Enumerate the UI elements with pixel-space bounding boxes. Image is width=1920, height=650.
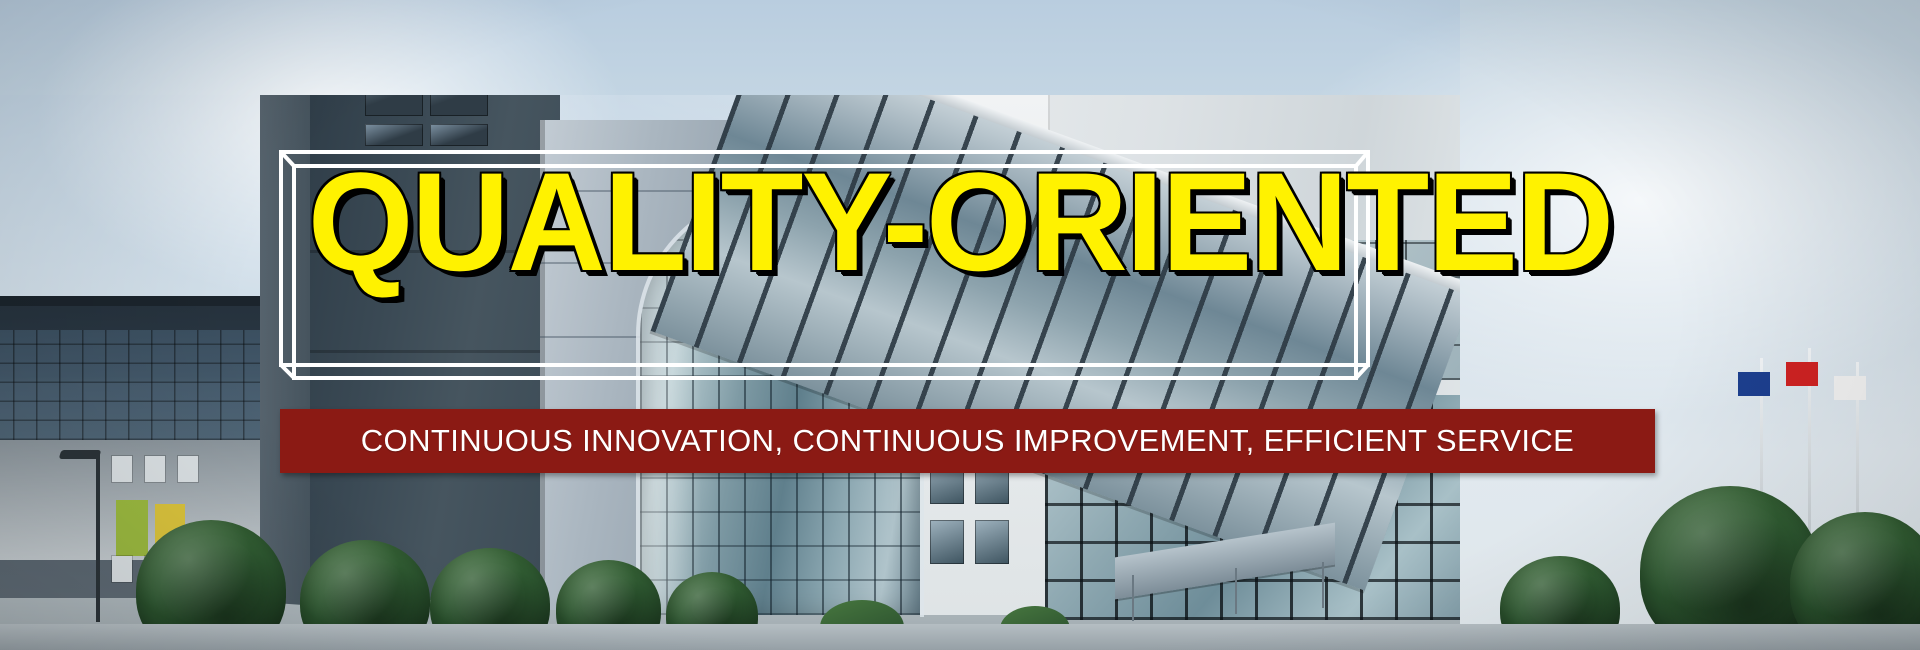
dark-tower-side — [260, 28, 316, 606]
facade-accent-green — [116, 500, 148, 556]
headline-text: QUALITY-ORIENTED — [29, 152, 1891, 292]
porch-strut — [1235, 568, 1237, 614]
promo-banner: QUALITY-ORIENTED CONTINUOUS INNOVATION, … — [0, 0, 1920, 650]
subtitle-text: CONTINUOUS INNOVATION, CONTINUOUS IMPROV… — [361, 423, 1574, 459]
street-lamp-head — [59, 450, 102, 459]
subtitle-banner: CONTINUOUS INNOVATION, CONTINUOUS IMPROV… — [280, 409, 1655, 473]
flag-red — [1786, 362, 1818, 386]
flag-blue — [1738, 372, 1770, 396]
dark-tower-band — [310, 350, 560, 353]
low-rise-window — [112, 556, 132, 582]
foreground-ledge — [0, 624, 1920, 650]
office-window — [930, 520, 964, 564]
porch-strut — [1132, 575, 1134, 621]
flag-white — [1834, 376, 1866, 400]
low-rise-window — [112, 456, 132, 482]
low-rise-window — [178, 456, 198, 482]
office-window — [975, 520, 1009, 564]
low-rise-window — [145, 456, 165, 482]
street-lamp-post — [96, 452, 100, 622]
porch-strut — [1322, 562, 1324, 608]
